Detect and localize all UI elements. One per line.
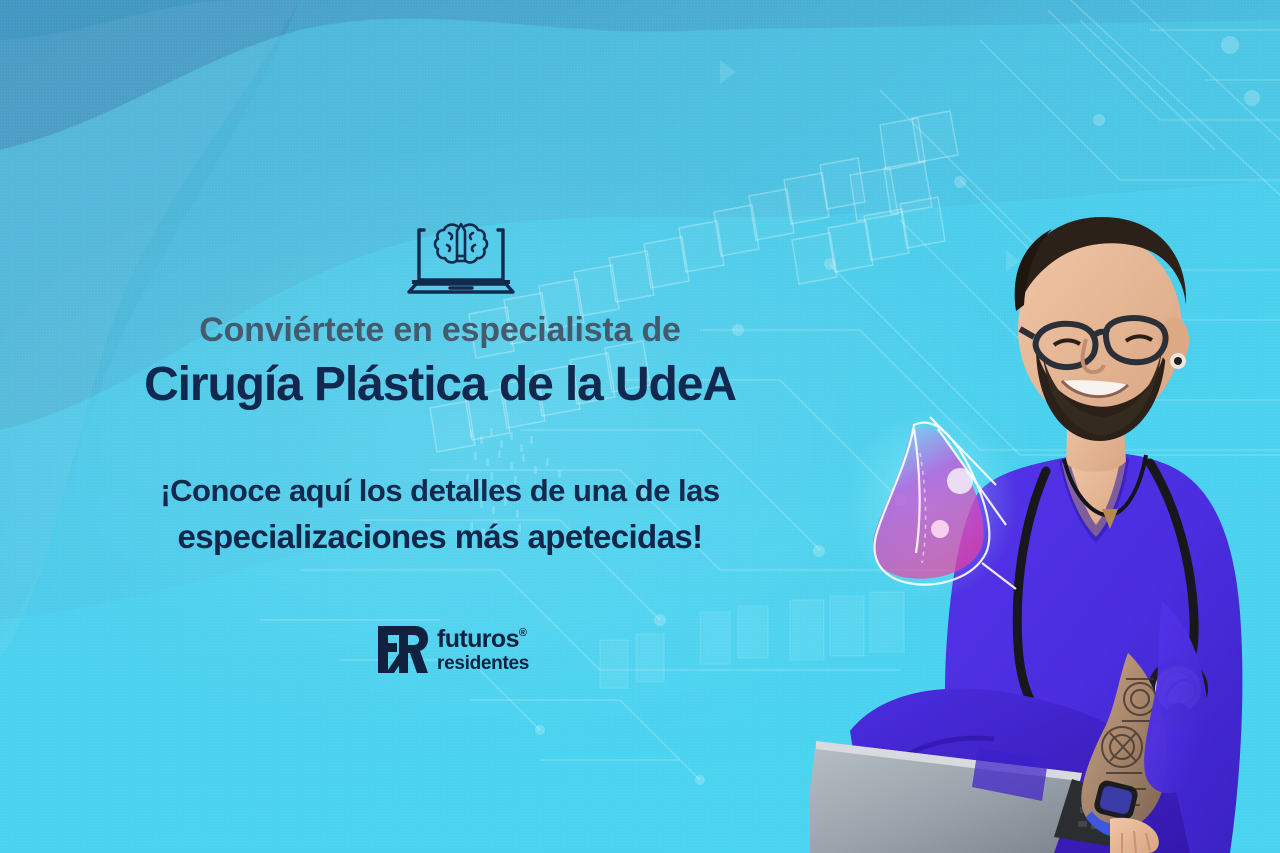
logo-word-residentes: residentes <box>437 654 529 673</box>
logo-word-top-row: futuros ® <box>437 627 529 652</box>
doctor-photo <box>810 133 1280 853</box>
registered-mark-icon: ® <box>519 628 527 639</box>
headline-line-1: Conviértete en especialista de <box>0 310 880 350</box>
headline-group: Conviértete en especialista de Cirugía P… <box>0 310 880 412</box>
laptop-brain-icon <box>406 214 516 306</box>
headline-line-2: Cirugía Plástica de la UdeA <box>0 358 880 412</box>
logo-word-futuros: futuros <box>437 627 519 652</box>
logo-wordmark: futuros ® residentes <box>437 627 529 673</box>
doctor-illustration <box>810 133 1280 853</box>
subheadline-group: ¡Conoce aquí los detalles de una de las … <box>0 472 880 557</box>
holographic-nose-graphic <box>846 407 1018 599</box>
banner-canvas: Conviértete en especialista de Cirugía P… <box>0 0 1280 853</box>
subheadline-line-1: ¡Conoce aquí los detalles de una de las <box>0 472 880 509</box>
brand-logo[interactable]: futuros ® residentes <box>378 626 529 673</box>
ear-plug-center <box>1174 357 1182 365</box>
fr-monogram-icon <box>378 626 428 673</box>
subheadline-line-2: especializaciones más apetecidas! <box>0 517 880 557</box>
message-block: Conviértete en especialista de Cirugía P… <box>0 0 880 853</box>
